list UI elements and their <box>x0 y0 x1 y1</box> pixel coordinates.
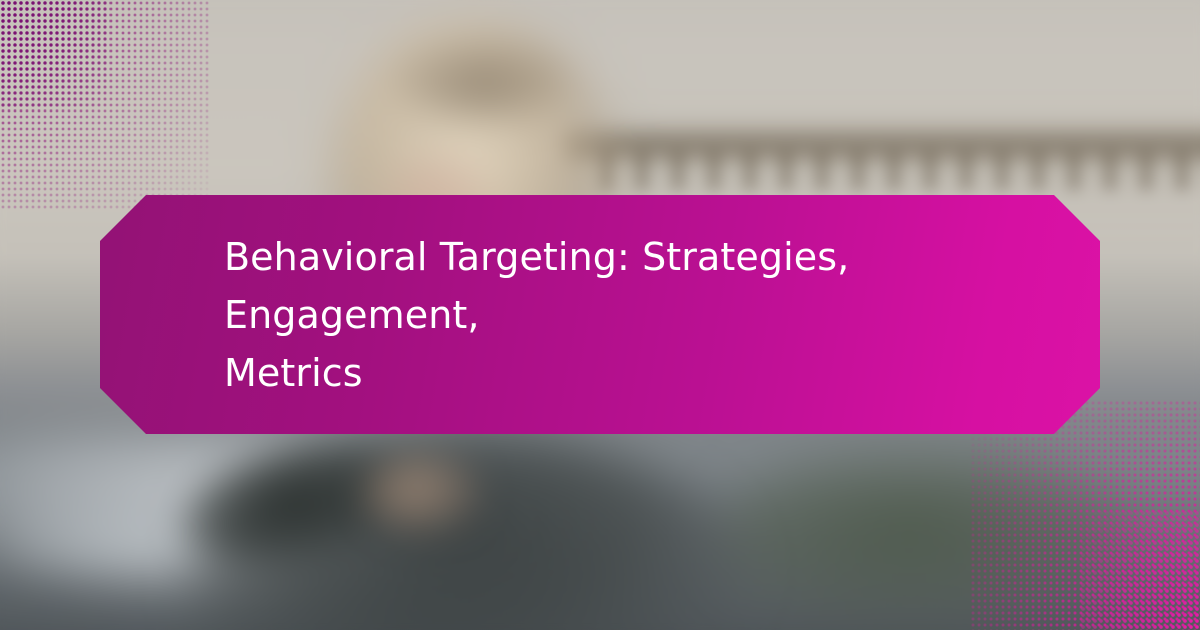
title-banner-inner: Behavioral Targeting: Strategies, Engage… <box>100 228 1100 402</box>
share-card-canvas: Behavioral Targeting: Strategies, Engage… <box>0 0 1200 630</box>
title-banner: Behavioral Targeting: Strategies, Engage… <box>100 195 1100 434</box>
page-title: Behavioral Targeting: Strategies, Engage… <box>224 228 976 402</box>
